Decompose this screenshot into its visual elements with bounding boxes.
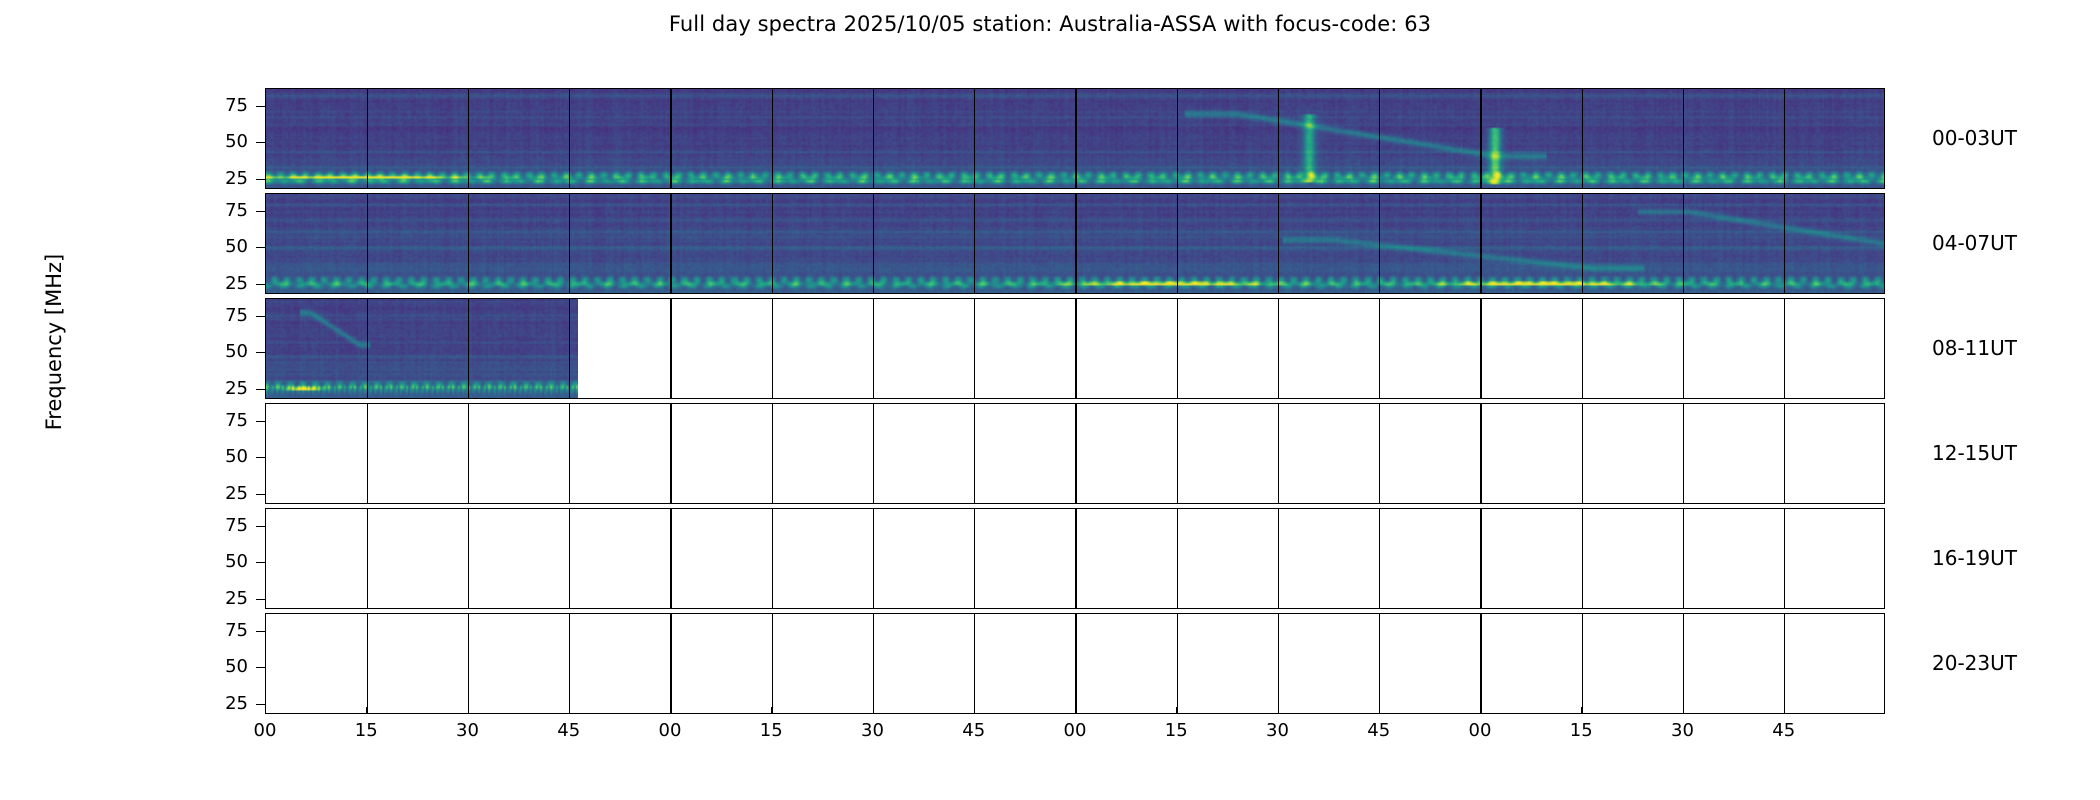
quarter-hour-divider	[873, 299, 874, 398]
quarter-hour-divider	[1278, 89, 1279, 188]
quarter-hour-divider	[873, 194, 874, 293]
quarter-hour-divider	[1784, 614, 1785, 713]
quarter-hour-divider	[1582, 509, 1583, 608]
quarter-hour-divider	[569, 614, 570, 713]
quarter-hour-divider	[772, 194, 773, 293]
hour-divider	[1075, 509, 1077, 608]
x-axis-tick-label: 45	[539, 722, 599, 740]
quarter-hour-divider	[1683, 404, 1684, 503]
quarter-hour-divider	[1784, 194, 1785, 293]
quarter-hour-divider	[1582, 194, 1583, 293]
x-axis-tick	[1784, 707, 1785, 714]
y-axis-tick	[256, 284, 265, 285]
quarter-hour-divider	[1177, 89, 1178, 188]
quarter-hour-divider	[1784, 404, 1785, 503]
quarter-hour-divider	[873, 404, 874, 503]
x-axis-tick-label: 30	[843, 722, 903, 740]
y-axis-tick-label: 75	[188, 202, 248, 220]
hour-divider	[1480, 89, 1482, 188]
x-axis-tick-label: 45	[944, 722, 1004, 740]
y-axis-tick	[256, 179, 265, 180]
quarter-hour-divider	[367, 299, 368, 398]
x-axis-tick	[771, 707, 772, 714]
quarter-hour-divider	[367, 614, 368, 713]
quarter-hour-divider	[772, 299, 773, 398]
spectrogram-row-08-11ut[interactable]: 25507508-11UT	[265, 298, 1885, 399]
x-axis-tick-label: 30	[438, 722, 498, 740]
hour-divider	[1480, 299, 1482, 398]
quarter-hour-divider	[569, 404, 570, 503]
y-axis-tick-label: 75	[188, 307, 248, 325]
y-axis-tick	[256, 704, 265, 705]
x-axis-tick-label: 45	[1349, 722, 1409, 740]
row-label-00-03ut: 00-03UT	[1932, 126, 2017, 150]
hour-divider	[670, 299, 672, 398]
y-axis-tick-label: 25	[188, 275, 248, 293]
page-title: Full day spectra 2025/10/05 station: Aus…	[0, 12, 2100, 36]
row-label-04-07ut: 04-07UT	[1932, 231, 2017, 255]
quarter-hour-divider	[1582, 89, 1583, 188]
y-axis-tick	[256, 599, 265, 600]
x-axis-tick	[670, 707, 671, 714]
y-axis-tick-label: 75	[188, 622, 248, 640]
x-axis-tick-label: 30	[1248, 722, 1308, 740]
y-axis-tick	[256, 457, 265, 458]
x-axis-tick	[1379, 707, 1380, 714]
y-axis-tick	[256, 389, 265, 390]
x-axis-tick-label: 00	[640, 722, 700, 740]
quarter-hour-divider	[468, 614, 469, 713]
hour-divider	[670, 194, 672, 293]
x-axis-tick-label: 00	[1450, 722, 1510, 740]
hour-divider	[670, 404, 672, 503]
quarter-hour-divider	[1177, 509, 1178, 608]
quarter-hour-divider	[1379, 194, 1380, 293]
quarter-hour-divider	[1784, 509, 1785, 608]
quarter-hour-divider	[873, 614, 874, 713]
x-axis-tick	[1581, 707, 1582, 714]
y-axis-tick	[256, 494, 265, 495]
y-axis-tick-label: 25	[188, 695, 248, 713]
plot-area[interactable]	[265, 508, 1885, 609]
x-axis-tick	[974, 707, 975, 714]
quarter-hour-divider	[569, 89, 570, 188]
row-label-16-19ut: 16-19UT	[1932, 546, 2017, 570]
quarter-hour-divider	[367, 404, 368, 503]
spectrogram-row-00-03ut[interactable]: 25507500-03UT	[265, 88, 1885, 189]
y-axis-tick	[256, 247, 265, 248]
quarter-hour-divider	[569, 299, 570, 398]
quarter-hour-divider	[1784, 299, 1785, 398]
y-axis-tick	[256, 211, 265, 212]
quarter-hour-divider	[1278, 614, 1279, 713]
quarter-hour-divider	[1379, 614, 1380, 713]
quarter-hour-divider	[1582, 404, 1583, 503]
x-axis-tick	[1075, 707, 1076, 714]
y-axis-tick-label: 50	[188, 553, 248, 571]
quarter-hour-divider	[772, 404, 773, 503]
quarter-hour-divider	[974, 194, 975, 293]
x-axis-tick-label: 00	[235, 722, 295, 740]
hour-divider	[670, 509, 672, 608]
x-axis-tick-label: 45	[1754, 722, 1814, 740]
x-axis-tick	[1480, 707, 1481, 714]
row-label-12-15ut: 12-15UT	[1932, 441, 2017, 465]
hour-divider	[1075, 89, 1077, 188]
quarter-hour-divider	[1278, 194, 1279, 293]
y-axis-tick-label: 50	[188, 343, 248, 361]
quarter-hour-divider	[1278, 509, 1279, 608]
y-axis-label: Frequency [MHz]	[42, 192, 66, 492]
hour-divider	[1075, 299, 1077, 398]
quarter-hour-divider	[468, 509, 469, 608]
x-axis-tick-label: 15	[1146, 722, 1206, 740]
quarter-hour-divider	[367, 509, 368, 608]
quarter-hour-divider	[1784, 89, 1785, 188]
x-axis-tick	[873, 707, 874, 714]
spectrogram-figure: Full day spectra 2025/10/05 station: Aus…	[0, 0, 2100, 800]
y-axis-tick	[256, 421, 265, 422]
quarter-hour-divider	[367, 89, 368, 188]
hour-divider	[1480, 404, 1482, 503]
quarter-hour-divider	[1683, 509, 1684, 608]
quarter-hour-divider	[1683, 89, 1684, 188]
quarter-hour-divider	[1683, 194, 1684, 293]
quarter-hour-divider	[1379, 404, 1380, 503]
y-axis-tick	[256, 667, 265, 668]
y-axis-tick-label: 50	[188, 133, 248, 151]
quarter-hour-divider	[1683, 614, 1684, 713]
y-axis-tick-label: 75	[188, 412, 248, 430]
quarter-hour-divider	[367, 194, 368, 293]
quarter-hour-divider	[772, 89, 773, 188]
hour-divider	[1075, 194, 1077, 293]
spectrogram-row-20-23ut[interactable]: 2550750015304500153045001530450015304520…	[265, 613, 1885, 714]
plot-area[interactable]	[265, 298, 1885, 399]
quarter-hour-divider	[772, 614, 773, 713]
y-axis-tick	[256, 526, 265, 527]
quarter-hour-divider	[974, 299, 975, 398]
hour-divider	[1480, 614, 1482, 713]
y-axis-tick	[256, 316, 265, 317]
x-axis-tick	[265, 707, 266, 714]
y-axis-tick	[256, 106, 265, 107]
quarter-hour-divider	[1177, 299, 1178, 398]
x-axis-tick-label: 15	[336, 722, 396, 740]
y-axis-tick-label: 50	[188, 448, 248, 466]
quarter-hour-divider	[1278, 404, 1279, 503]
hour-divider	[1075, 404, 1077, 503]
quarter-hour-divider	[1582, 614, 1583, 713]
spectrogram-row-04-07ut[interactable]: 25507504-07UT	[265, 193, 1885, 294]
x-axis-tick-label: 15	[1551, 722, 1611, 740]
hour-divider	[1075, 614, 1077, 713]
hour-divider	[1480, 509, 1482, 608]
y-axis-tick-label: 75	[188, 97, 248, 115]
quarter-hour-divider	[1177, 614, 1178, 713]
quarter-hour-divider	[974, 509, 975, 608]
y-axis-tick-label: 75	[188, 517, 248, 535]
quarter-hour-divider	[974, 614, 975, 713]
row-label-08-11ut: 08-11UT	[1932, 336, 2017, 360]
quarter-hour-divider	[873, 509, 874, 608]
quarter-hour-divider	[1278, 299, 1279, 398]
quarter-hour-divider	[1379, 509, 1380, 608]
quarter-hour-divider	[974, 89, 975, 188]
y-axis-tick	[256, 562, 265, 563]
quarter-hour-divider	[1177, 404, 1178, 503]
x-axis-tick	[569, 707, 570, 714]
y-axis-tick-label: 25	[188, 590, 248, 608]
x-axis-tick	[468, 707, 469, 714]
hour-divider	[1480, 194, 1482, 293]
quarter-hour-divider	[1379, 89, 1380, 188]
quarter-hour-divider	[468, 194, 469, 293]
y-axis-tick-label: 50	[188, 238, 248, 256]
quarter-hour-divider	[974, 404, 975, 503]
quarter-hour-divider	[873, 89, 874, 188]
quarter-hour-divider	[1683, 299, 1684, 398]
y-axis-tick	[256, 631, 265, 632]
x-axis-tick	[366, 707, 367, 714]
spectrogram-row-12-15ut[interactable]: 25507512-15UT	[265, 403, 1885, 504]
spectrogram-image	[266, 299, 578, 398]
quarter-hour-divider	[468, 404, 469, 503]
quarter-hour-divider	[468, 299, 469, 398]
y-axis-tick-label: 25	[188, 485, 248, 503]
x-axis-tick-label: 30	[1653, 722, 1713, 740]
quarter-hour-divider	[569, 509, 570, 608]
hour-divider	[670, 89, 672, 188]
quarter-hour-divider	[468, 89, 469, 188]
quarter-hour-divider	[772, 509, 773, 608]
quarter-hour-divider	[1177, 194, 1178, 293]
quarter-hour-divider	[1582, 299, 1583, 398]
y-axis-tick-label: 25	[188, 170, 248, 188]
plot-area[interactable]	[265, 193, 1885, 294]
row-label-20-23ut: 20-23UT	[1932, 651, 2017, 675]
y-axis-tick	[256, 352, 265, 353]
y-axis-tick	[256, 142, 265, 143]
x-axis-tick	[1278, 707, 1279, 714]
plot-area[interactable]	[265, 88, 1885, 189]
y-axis-tick-label: 50	[188, 658, 248, 676]
x-axis-tick	[1176, 707, 1177, 714]
quarter-hour-divider	[569, 194, 570, 293]
hour-divider	[670, 614, 672, 713]
x-axis-tick	[1683, 707, 1684, 714]
plot-area[interactable]	[265, 613, 1885, 714]
y-axis-tick-label: 25	[188, 380, 248, 398]
x-axis-tick-label: 15	[741, 722, 801, 740]
plot-area[interactable]	[265, 403, 1885, 504]
x-axis-tick-label: 00	[1045, 722, 1105, 740]
spectrogram-row-16-19ut[interactable]: 25507516-19UT	[265, 508, 1885, 609]
quarter-hour-divider	[1379, 299, 1380, 398]
